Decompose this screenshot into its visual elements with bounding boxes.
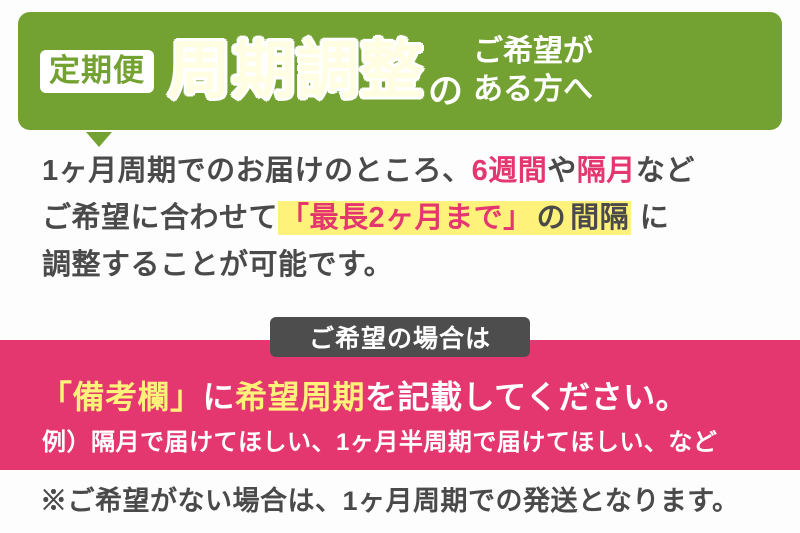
body-paragraph: 1ヶ月周期でのお届けのところ、6週間や隔月など ご希望に合わせて「最長2ヶ月まで… bbox=[42, 148, 772, 289]
request-pink-section: ご希望の場合は 「備考欄」に希望周期を記載してください。 例）隔月で届けてほしい… bbox=[0, 340, 800, 470]
request-remarks-field-label: 「備考欄」 bbox=[40, 379, 203, 415]
body-line2-part-a: ご希望に合わせて bbox=[42, 202, 278, 234]
header-banner: 定期便 周期調整 の ご希望が ある方へ bbox=[18, 12, 782, 130]
request-main-part-d: を記載してください。 bbox=[365, 379, 688, 415]
body-line1-part-a: 1ヶ月周期でのお届けのところ、 bbox=[42, 155, 472, 187]
request-example-text: 例）隔月で届けてほしい、1ヶ月半周期で届けてほしい、など bbox=[42, 422, 717, 457]
banner-right-line1: ご希望が bbox=[473, 35, 593, 68]
body-line2-highlight-interval: 間隔 bbox=[568, 201, 631, 235]
banner-tail-arrow bbox=[86, 132, 112, 147]
banner-main-title: 周期調整 bbox=[168, 40, 424, 103]
body-line-3: 調整することが可能です。 bbox=[42, 242, 772, 289]
promo-banner-page: 定期便 周期調整 の ご希望が ある方へ 1ヶ月周期でのお届けのところ、6週間や… bbox=[0, 0, 800, 533]
banner-right-text: ご希望が ある方へ bbox=[473, 33, 593, 110]
body-line1-part-c: や bbox=[547, 155, 577, 187]
body-line1-part-e: など bbox=[636, 155, 695, 187]
request-desired-cycle-label: 希望周期 bbox=[235, 379, 365, 415]
body-line-1: 1ヶ月周期でのお届けのところ、6週間や隔月など bbox=[42, 148, 772, 195]
banner-right-line2: ある方へ bbox=[473, 73, 593, 106]
request-main-part-b: に bbox=[203, 379, 236, 415]
request-badge: ご希望の場合は bbox=[270, 317, 530, 357]
body-line-2: ご希望に合わせて「最長2ヶ月まで」の間隔 に bbox=[42, 195, 772, 242]
header-banner-wrap: 定期便 周期調整 の ご希望が ある方へ bbox=[18, 12, 782, 134]
body-line2-part-e: に bbox=[631, 202, 669, 234]
request-main-text: 「備考欄」に希望周期を記載してください。 bbox=[40, 372, 688, 418]
footer-note: ※ご希望がない場合は、1ヶ月周期での発送となります。 bbox=[40, 479, 740, 518]
banner-particle: の bbox=[428, 63, 463, 130]
body-line1-highlight-6weeks: 6週間 bbox=[472, 155, 548, 187]
subscription-pill-label: 定期便 bbox=[40, 50, 154, 93]
body-line1-highlight-bimonthly: 隔月 bbox=[577, 155, 636, 187]
body-line2-highlight-max2months: 「最長2ヶ月まで」 bbox=[278, 201, 535, 235]
body-line2-part-c: の bbox=[535, 201, 569, 235]
